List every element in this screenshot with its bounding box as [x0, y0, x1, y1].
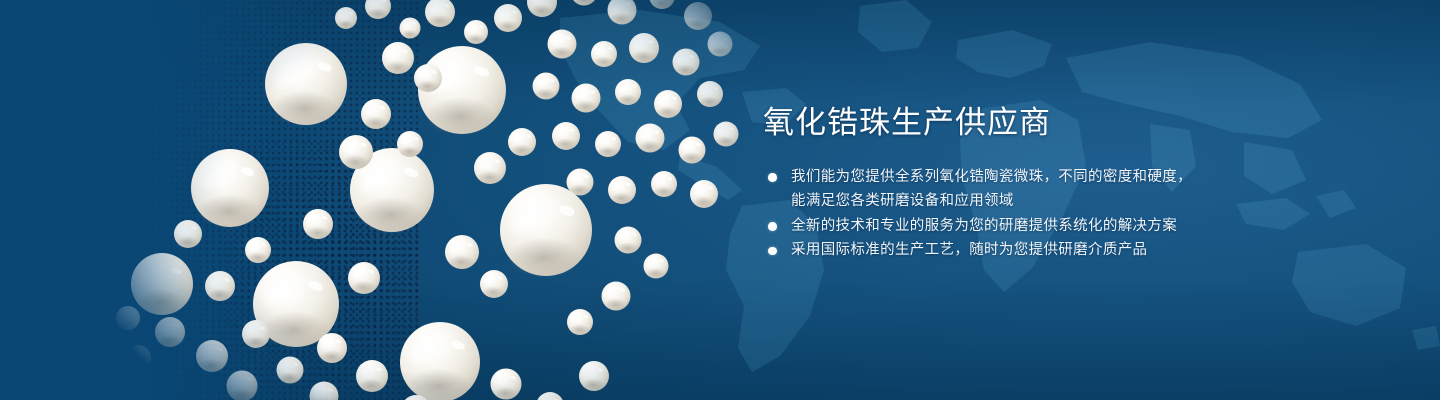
list-item: 我们能为您提供全系列氧化锆陶瓷微珠，不同的密度和硬度， 能满足您各类研磨设备和应… — [763, 165, 1283, 214]
benefits-list: 我们能为您提供全系列氧化锆陶瓷微珠，不同的密度和硬度， 能满足您各类研磨设备和应… — [763, 165, 1283, 263]
banner-headline: 氧化锆珠生产供应商 — [763, 103, 1283, 143]
bullet-line: 全新的技术和专业的服务为您的研磨提供系统化的解决方案 — [791, 214, 1283, 239]
bullet-line: 采用国际标准的生产工艺，随时为您提供研磨介质产品 — [791, 238, 1283, 263]
bullet-dot-icon — [768, 222, 777, 231]
bullet-dot-icon — [768, 247, 777, 256]
hero-banner: 氧化锆珠生产供应商 我们能为您提供全系列氧化锆陶瓷微珠，不同的密度和硬度， 能满… — [0, 0, 1440, 400]
list-item: 全新的技术和专业的服务为您的研磨提供系统化的解决方案 — [763, 214, 1283, 239]
banner-copy: 氧化锆珠生产供应商 我们能为您提供全系列氧化锆陶瓷微珠，不同的密度和硬度， 能满… — [763, 103, 1283, 263]
bullet-line: 能满足您各类研磨设备和应用领域 — [791, 189, 1283, 214]
list-item: 采用国际标准的生产工艺，随时为您提供研磨介质产品 — [763, 238, 1283, 263]
zirconia-beads-image — [110, 0, 750, 400]
bullet-line: 我们能为您提供全系列氧化锆陶瓷微珠，不同的密度和硬度， — [791, 165, 1283, 190]
bullet-dot-icon — [768, 173, 777, 182]
